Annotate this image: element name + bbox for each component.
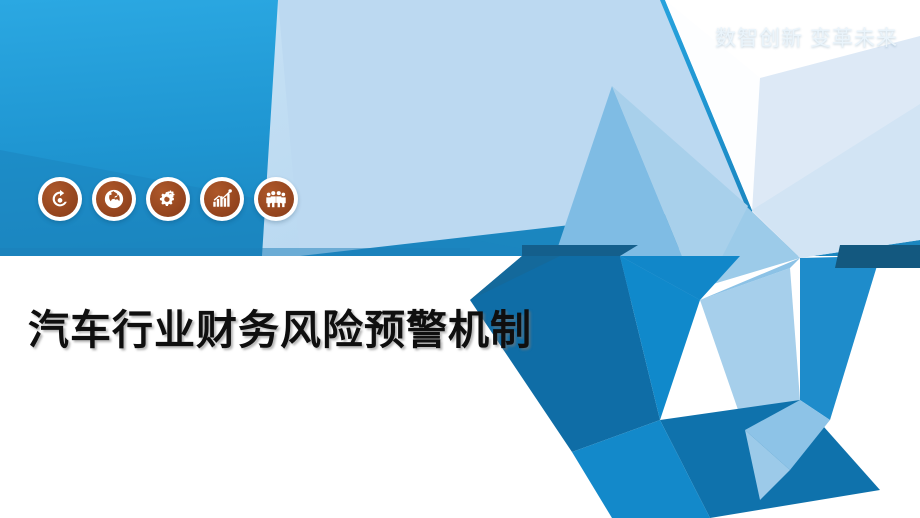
icon-disc bbox=[42, 181, 78, 217]
presentation-title-slide: 数智创新 变革未来 bbox=[0, 0, 920, 518]
gears-icon bbox=[157, 188, 179, 210]
icon-disc bbox=[258, 181, 294, 217]
icon-badge-gears[interactable] bbox=[146, 177, 190, 221]
icon-badge-refresh[interactable] bbox=[38, 177, 82, 221]
icon-disc bbox=[204, 181, 240, 217]
slide-tagline: 数智创新 变革未来 bbox=[715, 26, 898, 51]
icon-disc bbox=[150, 181, 186, 217]
background-polygon-artwork bbox=[0, 0, 920, 518]
icon-badge-globe[interactable] bbox=[92, 177, 136, 221]
icon-badge-people-group[interactable] bbox=[254, 177, 298, 221]
icon-badge-bar-chart[interactable] bbox=[200, 177, 244, 221]
page-title: 汽车行业财务风险预警机制 bbox=[28, 296, 532, 356]
refresh-arrow-icon bbox=[49, 188, 71, 210]
icon-strip bbox=[38, 177, 298, 221]
people-group-icon bbox=[265, 188, 287, 210]
bar-chart-icon bbox=[211, 188, 233, 210]
globe-icon bbox=[103, 188, 125, 210]
icon-disc bbox=[96, 181, 132, 217]
